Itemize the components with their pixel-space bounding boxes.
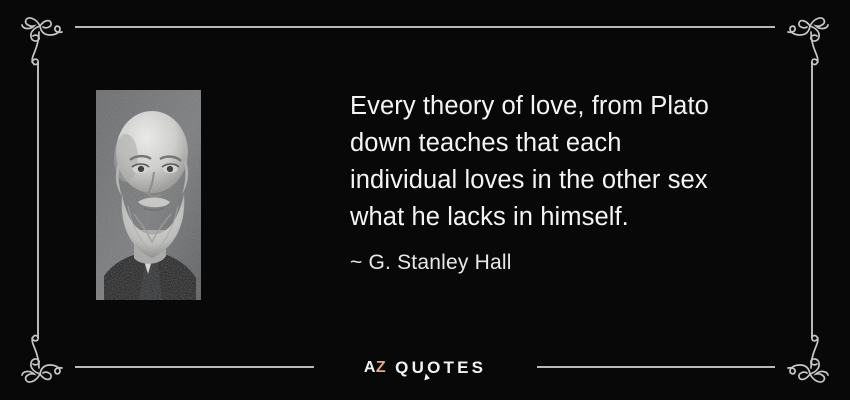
quote-line-4: what he lacks in himself. — [350, 199, 780, 236]
corner-flourish-icon-top-left — [10, 8, 72, 70]
logo-letter-a: AZ — [364, 359, 386, 377]
quote-line-1: Every theory of love, from Plato — [350, 88, 780, 125]
frame-line-left — [37, 62, 39, 338]
quote-attribution: ~ G. Stanley Hall — [350, 251, 512, 275]
frame-line-top — [75, 26, 775, 28]
quote-line-3: individual loves in the other sex — [350, 162, 780, 199]
quote-card: Every theory of love, from Plato down te… — [0, 0, 850, 400]
azquotes-logo[interactable]: AZ QUOTES — [0, 355, 850, 381]
author-portrait-image — [96, 90, 201, 300]
corner-flourish-icon-top-right — [778, 8, 840, 70]
logo-word-quotes: QUOTES — [395, 358, 486, 378]
logo-letter-z: Z — [376, 359, 386, 376]
frame-line-right — [811, 62, 813, 338]
speech-bubble-tail-icon — [424, 374, 430, 382]
quote-line-2: down teaches that each — [350, 125, 780, 162]
quote-text: Every theory of love, from Plato down te… — [350, 88, 780, 236]
